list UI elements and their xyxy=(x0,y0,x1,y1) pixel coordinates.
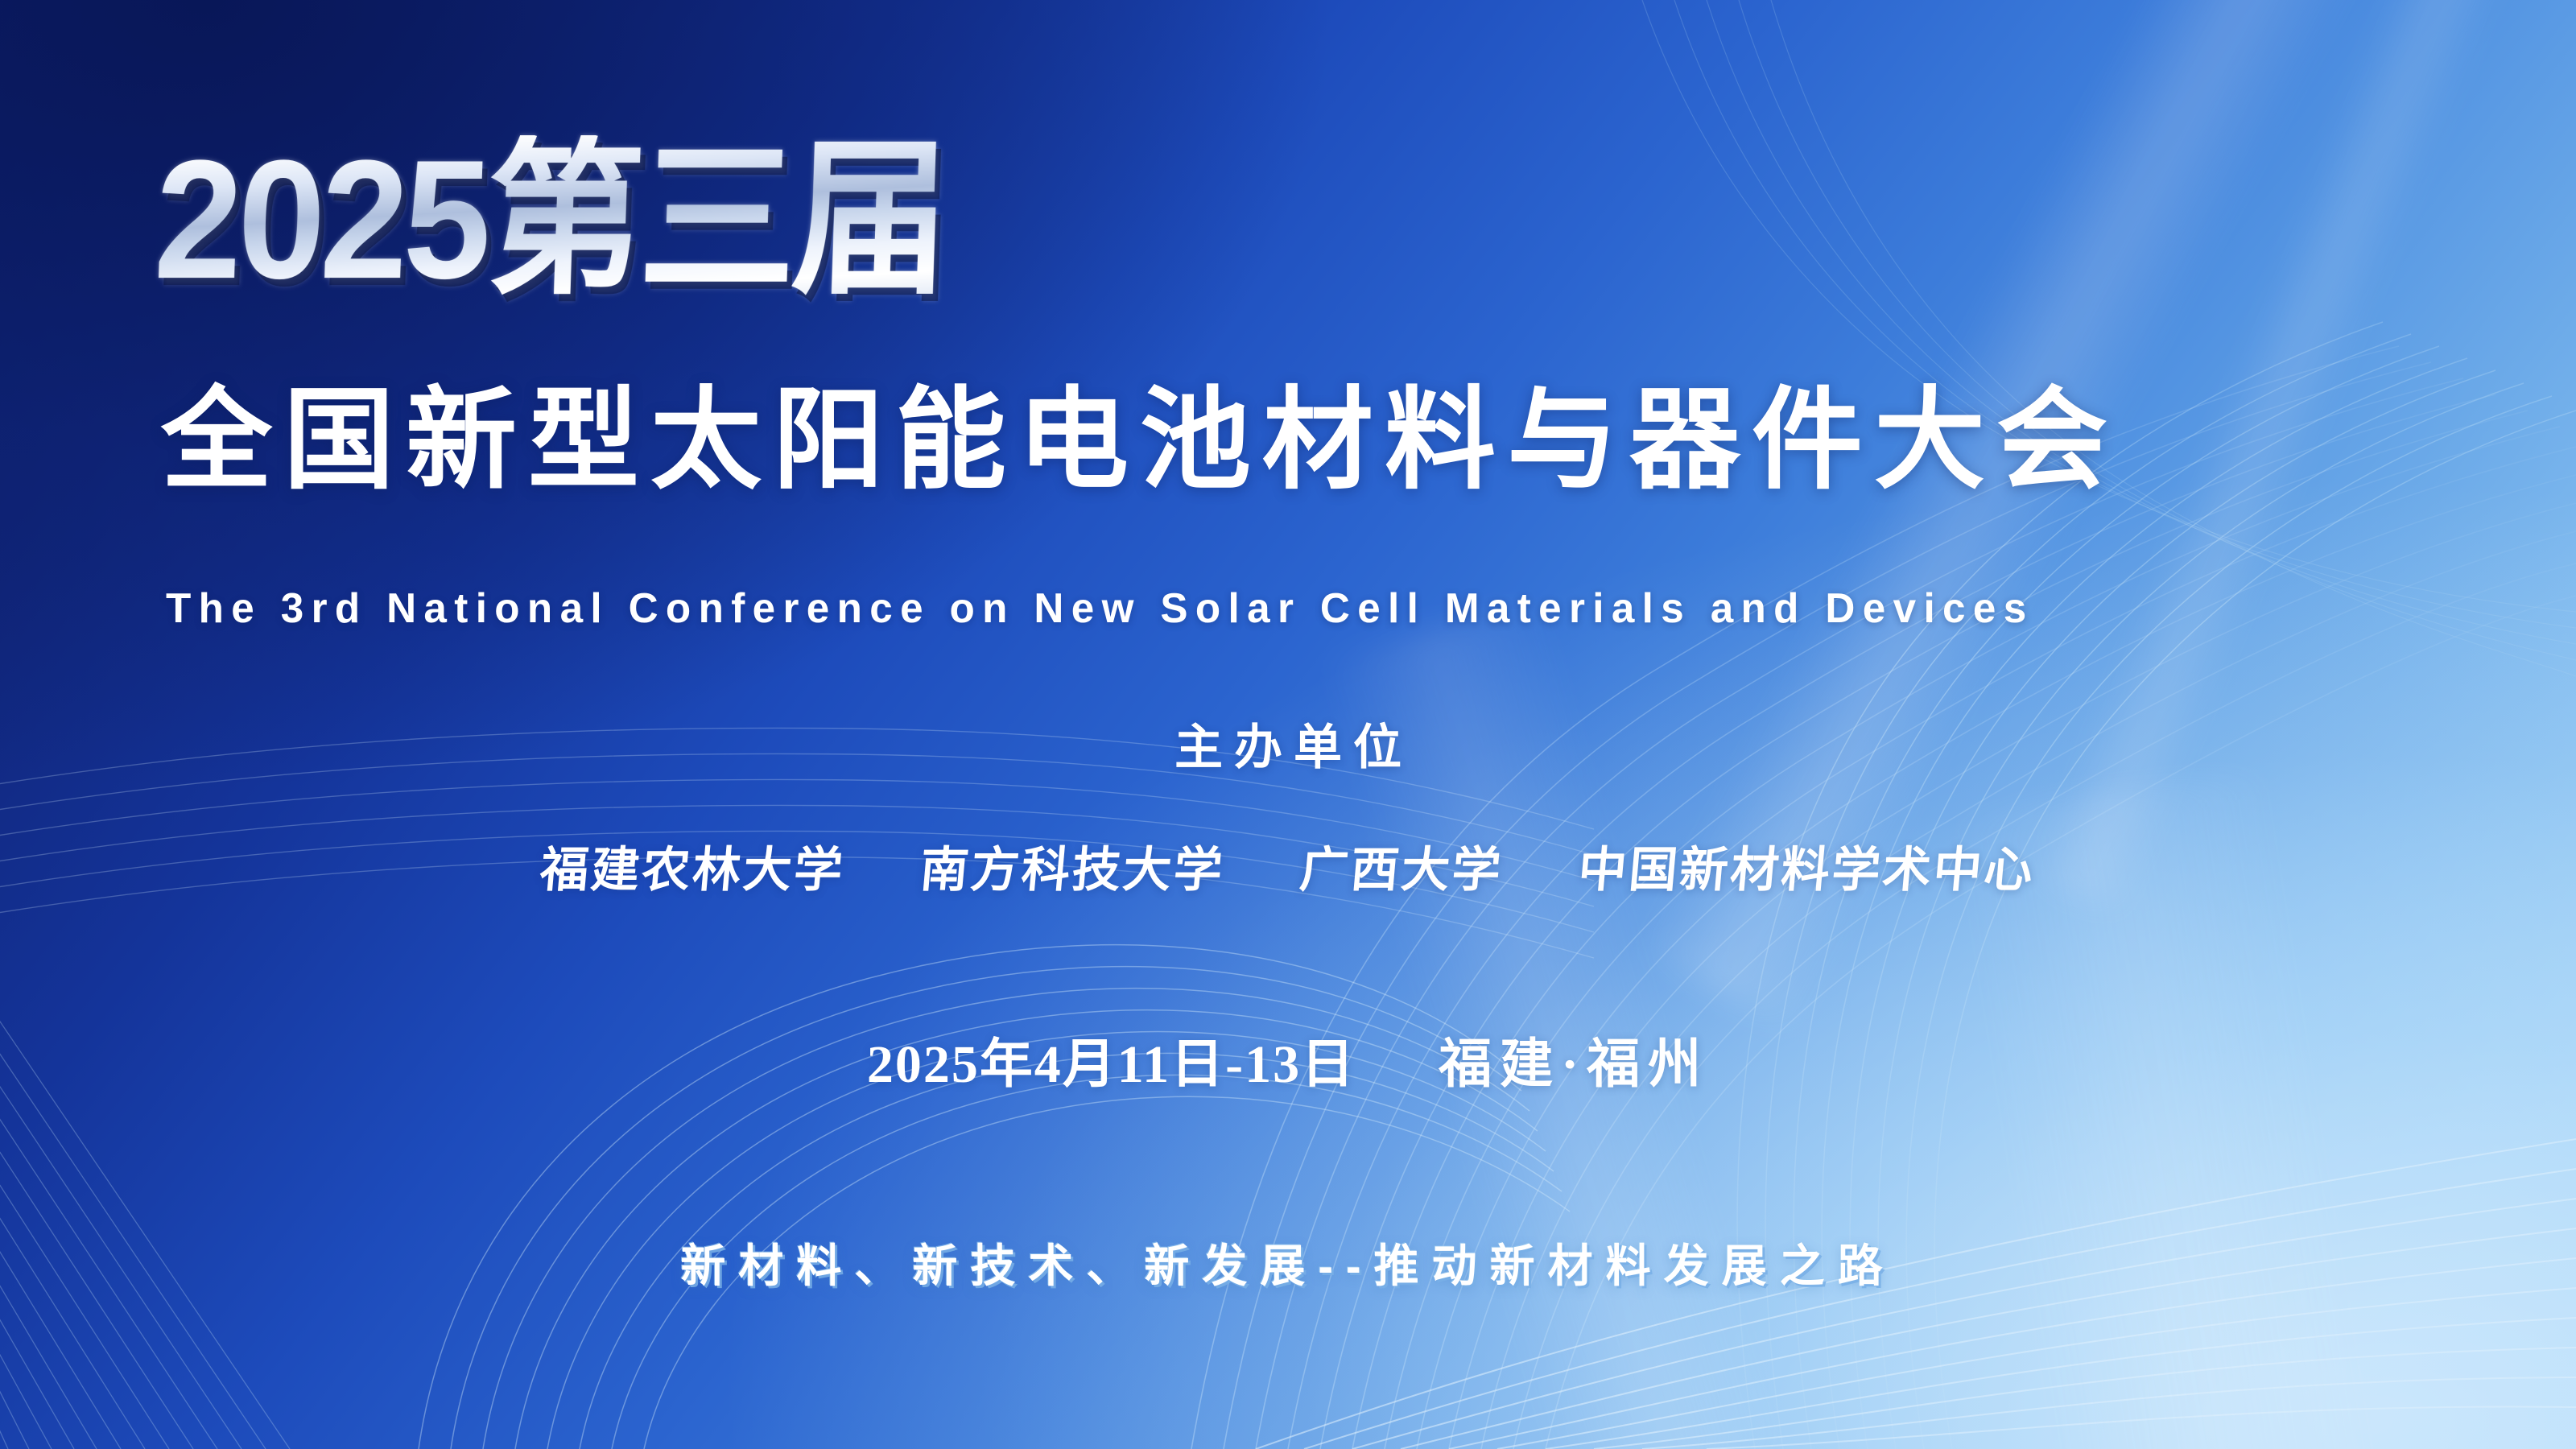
event-location: 福建·福州 xyxy=(1439,1035,1709,1094)
organizer-name: 中国新材料学术中心 xyxy=(1576,842,2037,898)
organizer-name: 福建农林大学 xyxy=(538,842,847,898)
conference-poster: 2025第三届 全国新型太阳能电池材料与器件大会 The 3rd Nationa… xyxy=(0,0,2576,1449)
host-organizer-list: 福建农林大学 南方科技大学 广西大学 中国新材料学术中心 xyxy=(0,831,2576,901)
event-slogan: 新材料、新技术、新发展--推动新材料发展之路 xyxy=(0,1230,2576,1295)
organizer-name: 南方科技大学 xyxy=(918,842,1227,898)
event-date: 2025年4月11日-13日 xyxy=(867,1035,1356,1094)
english-subtitle: The 3rd National Conference on New Solar… xyxy=(166,584,2034,633)
host-section-label: 主办单位 xyxy=(0,708,2576,778)
page-title: 全国新型太阳能电池材料与器件大会 xyxy=(161,378,2119,503)
host-label-text: 主办单位 xyxy=(1163,720,1413,774)
headline-year-edition: 2025第三届 xyxy=(152,135,947,304)
organizer-name: 广西大学 xyxy=(1298,842,1505,898)
event-date-location: 2025年4月11日-13日 福建·福州 xyxy=(0,1021,2576,1098)
poster-content: 2025第三届 全国新型太阳能电池材料与器件大会 The 3rd Nationa… xyxy=(0,0,2576,1449)
